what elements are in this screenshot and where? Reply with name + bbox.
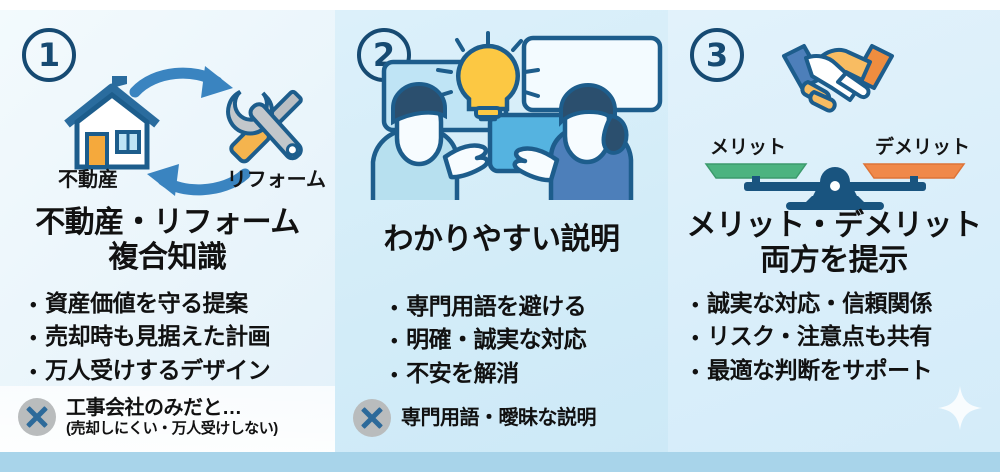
bullet-dot-icon: • — [391, 366, 397, 385]
scale-label-merit: メリット — [710, 132, 786, 159]
list-item-label: 明確・誠実な対応 — [406, 323, 586, 356]
warning-main-label: 専門用語・曖昧な説明 — [401, 407, 596, 430]
scale-label-demerit: デメリット — [875, 132, 970, 159]
bullet-dot-icon: • — [30, 296, 36, 315]
panel-1-title: 不動産・リフォーム 複合知識 — [0, 205, 335, 276]
warning-sub-label: (売却しにくい・万人受けしない) — [66, 420, 278, 438]
panel-container: 1 — [0, 10, 1000, 452]
list-item: • 万人受けするデザイン — [12, 354, 323, 387]
panel-1[interactable]: 1 — [0, 10, 335, 452]
cycle-label-right: リフォーム — [227, 163, 326, 192]
list-item: • 明確・誠実な対応 — [347, 323, 656, 356]
panel-3-title-line1: メリット・デメリット — [668, 208, 1000, 243]
sparkle-icon — [938, 386, 982, 430]
x-mark-icon — [353, 399, 391, 437]
panel-3-title: メリット・デメリット 両方を提示 — [668, 208, 1000, 279]
list-item: • 資産価値を守る提案 — [12, 287, 323, 320]
two-people-talking-with-speech-bubbles-icon — [335, 20, 668, 215]
list-item: • リスク・注意点も共有 — [680, 320, 988, 353]
panel-2-artwork — [335, 20, 668, 205]
panel-1-title-line1: 不動産・リフォーム — [0, 205, 335, 240]
bullet-dot-icon: • — [30, 329, 36, 348]
bullet-dot-icon: • — [30, 363, 36, 382]
infographic-stage: 1 — [0, 0, 1000, 472]
list-item-label: 最適な判断をサポート — [707, 354, 932, 387]
list-item: • 専門用語を避ける — [347, 290, 656, 323]
panel-3-artwork: メリット デメリット — [668, 20, 1000, 205]
panel-1-bullet-list: • 資産価値を守る提案 • 売却時も見据えた計画 • 万人受けするデザイン — [0, 287, 335, 387]
panel-2[interactable]: 2 — [335, 10, 668, 452]
list-item-label: リスク・注意点も共有 — [707, 320, 932, 353]
list-item: • 最適な判断をサポート — [680, 354, 988, 387]
list-item-label: 資産価値を守る提案 — [45, 287, 248, 320]
bullet-dot-icon: • — [692, 329, 698, 348]
list-item: • 誠実な対応・信頼関係 — [680, 287, 988, 320]
panel-2-warning-texts: 専門用語・曖昧な説明 — [401, 407, 596, 430]
panel-3-title-line2: 両方を提示 — [668, 243, 1000, 278]
cycle-labels: 不動産 リフォーム — [58, 163, 326, 192]
scale-labels: メリット デメリット — [696, 132, 974, 159]
handshake-icon — [778, 38, 898, 116]
panel-2-warning-row: 専門用語・曖昧な説明 — [335, 392, 668, 452]
panel-1-artwork: 不動産 リフォーム — [0, 20, 335, 205]
cycle-label-left: 不動産 — [58, 163, 118, 192]
bullet-dot-icon: • — [391, 332, 397, 351]
panel-1-warning-row: 工事会社のみだと… (売却しにくい・万人受けしない) — [0, 386, 335, 452]
top-white-strip — [0, 0, 1000, 10]
panel-2-title-line1: わかりやすい説明 — [335, 222, 668, 257]
list-item-label: 万人受けするデザイン — [45, 354, 270, 387]
panel-2-bullet-list: • 専門用語を避ける • 明確・誠実な対応 • 不安を解消 — [335, 290, 668, 390]
list-item-label: 専門用語を避ける — [406, 290, 586, 323]
warning-main-label: 工事会社のみだと… — [66, 397, 278, 420]
list-item: • 不安を解消 — [347, 357, 656, 390]
panel-2-title: わかりやすい説明 — [335, 222, 668, 257]
panel-3-bullet-list: • 誠実な対応・信頼関係 • リスク・注意点も共有 • 最適な判断をサポート — [668, 287, 1000, 387]
list-item-label: 不安を解消 — [406, 357, 519, 390]
bullet-dot-icon: • — [692, 363, 698, 382]
list-item: • 売却時も見据えた計画 — [12, 320, 323, 353]
panel-3[interactable]: 3 メリット デメリット — [668, 10, 1000, 452]
x-mark-icon — [18, 398, 56, 436]
bullet-dot-icon: • — [391, 299, 397, 318]
bottom-accent-bar — [0, 452, 1000, 472]
panel-1-title-line2: 複合知識 — [0, 240, 335, 275]
panel-1-warning-texts: 工事会社のみだと… (売却しにくい・万人受けしない) — [66, 397, 278, 438]
list-item-label: 誠実な対応・信頼関係 — [707, 287, 932, 320]
list-item-label: 売却時も見据えた計画 — [45, 320, 270, 353]
balance-scale-icon — [694, 158, 976, 210]
bullet-dot-icon: • — [692, 296, 698, 315]
